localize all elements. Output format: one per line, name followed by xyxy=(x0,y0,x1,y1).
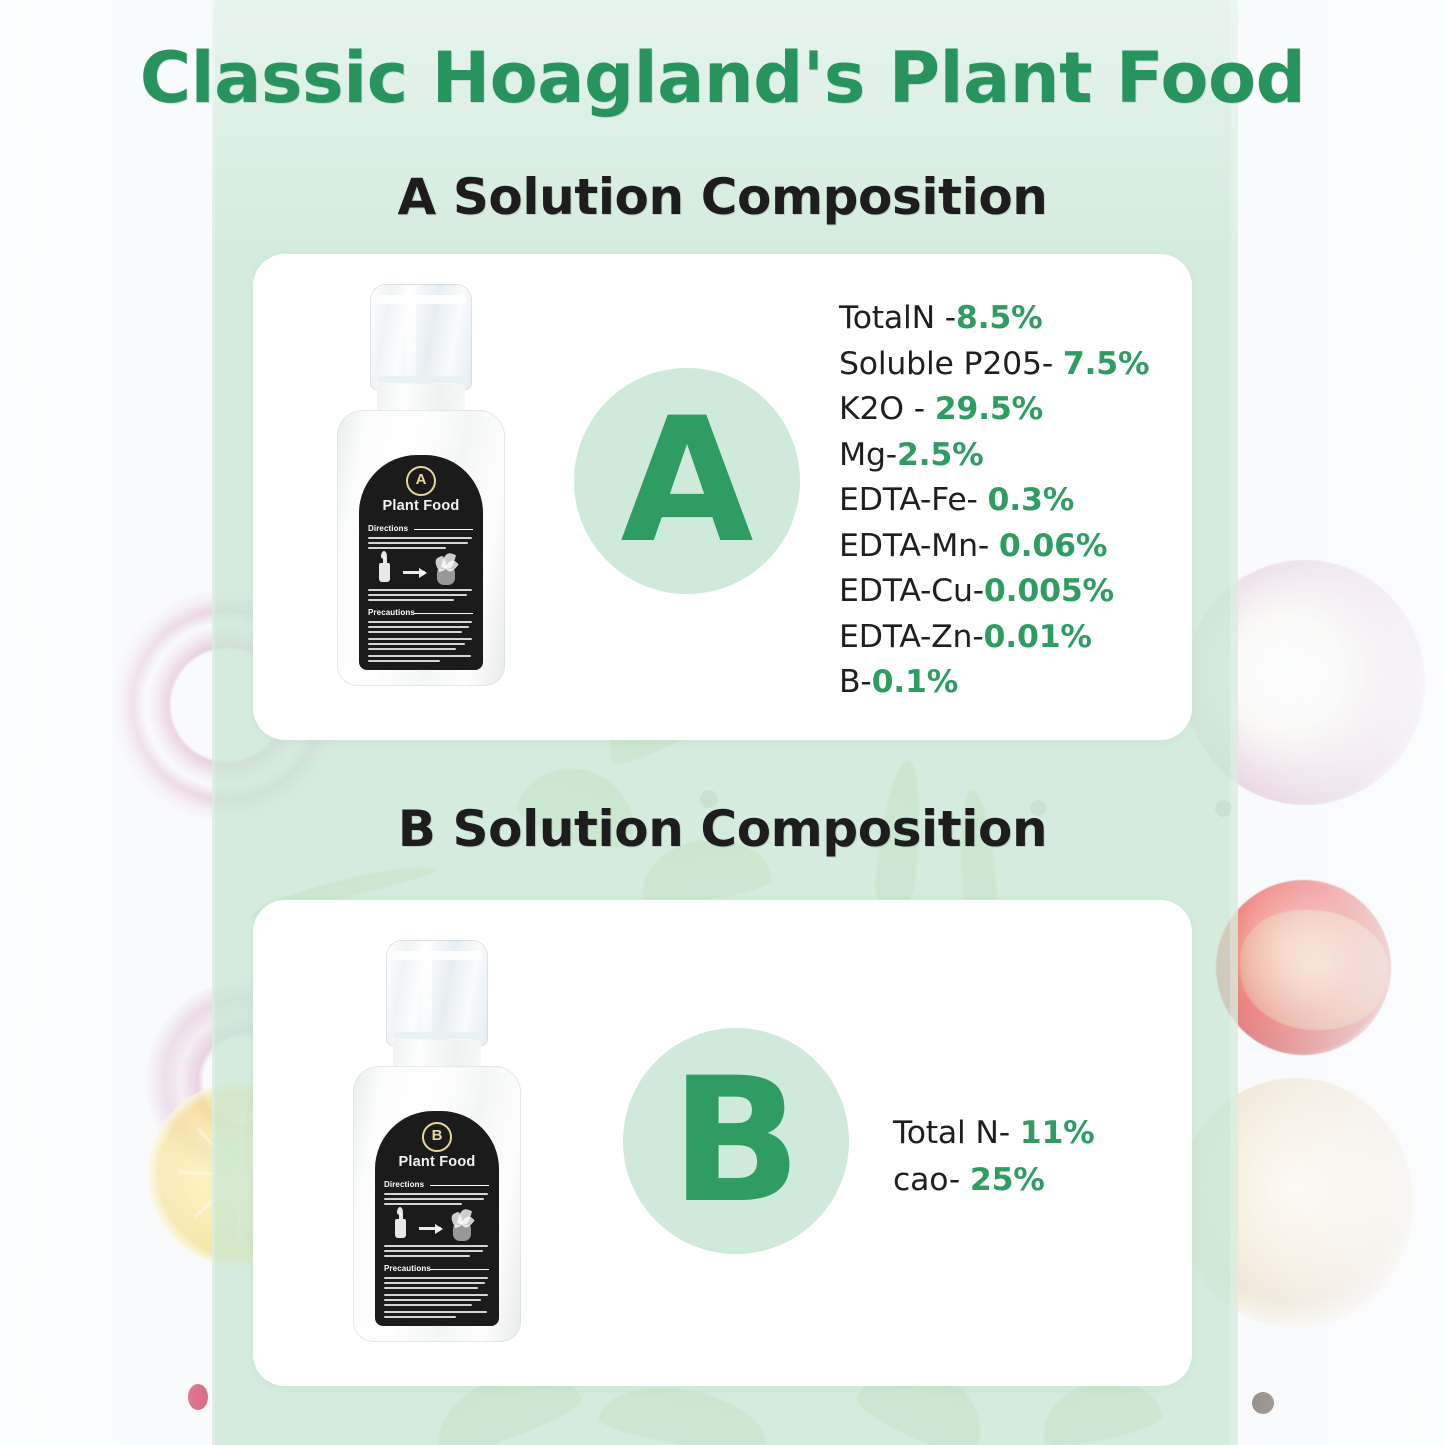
composition-nutrient-name: Soluble P205- xyxy=(839,346,1063,382)
label-body-line xyxy=(384,1311,487,1313)
pink-peppercorn-icon xyxy=(188,1384,208,1410)
composition-row: K2O - 29.5% xyxy=(839,387,1184,433)
label-body-line xyxy=(368,542,468,544)
bottle-label-b: B Plant Food Directions xyxy=(375,1111,499,1326)
label-body-line xyxy=(368,589,472,591)
cap-ridge-highlight xyxy=(422,944,432,1042)
infographic-page: Classic Hoagland's Plant Food A Solution… xyxy=(0,0,1445,1445)
composition-nutrient-name: K2O - xyxy=(839,391,935,427)
label-body-line xyxy=(384,1287,478,1289)
label-body-line xyxy=(384,1277,488,1279)
composition-nutrient-value: 0.06% xyxy=(999,528,1107,564)
composition-nutrient-value: 0.1% xyxy=(872,664,959,700)
label-body-line xyxy=(368,643,465,645)
label-body-line xyxy=(368,537,472,539)
label-body-line xyxy=(368,599,454,601)
composition-nutrient-name: EDTA-Mn- xyxy=(839,528,999,564)
cap-ridge-highlight xyxy=(406,288,416,386)
composition-card-a: A Plant Food Directions xyxy=(253,254,1192,740)
composition-nutrient-name: Mg- xyxy=(839,437,897,473)
composition-nutrient-value: 0.01% xyxy=(984,619,1092,655)
label-rule xyxy=(414,529,473,530)
label-rule xyxy=(430,1185,489,1186)
label-body-line xyxy=(368,660,440,662)
composition-nutrient-value: 11% xyxy=(1020,1115,1095,1151)
label-body-line xyxy=(368,631,462,633)
composition-nutrient-value: 25% xyxy=(970,1162,1045,1198)
bottle-cap-icon xyxy=(370,284,472,390)
label-rule xyxy=(414,613,473,614)
label-rule xyxy=(430,1269,489,1270)
composition-nutrient-name: cao- xyxy=(893,1162,970,1198)
bottle-body: A Plant Food Directions xyxy=(337,410,505,686)
label-body-line xyxy=(384,1255,470,1257)
label-body-line xyxy=(384,1245,488,1247)
label-directions-text: Directions xyxy=(368,524,408,533)
composition-row: EDTA-Cu-0.005% xyxy=(839,569,1184,615)
label-bottle-icon xyxy=(395,1219,406,1238)
bottle-a: A Plant Food Directions xyxy=(337,284,505,686)
composition-nutrient-name: TotalN - xyxy=(839,300,956,336)
composition-nutrient-value: 0.3% xyxy=(988,482,1075,518)
page-title: Classic Hoagland's Plant Food xyxy=(0,42,1445,116)
bottle-cap-icon xyxy=(386,940,488,1046)
composition-nutrient-name: Total N- xyxy=(893,1115,1020,1151)
composition-row: B-0.1% xyxy=(839,660,1184,706)
composition-row: Soluble P205- 7.5% xyxy=(839,342,1184,388)
label-precautions-text: Precautions xyxy=(368,608,415,617)
label-body-line xyxy=(368,626,469,628)
label-body-line xyxy=(368,648,456,650)
section-title-a: A Solution Composition xyxy=(0,168,1445,226)
label-body-line xyxy=(384,1299,481,1301)
label-brand-name: Plant Food xyxy=(359,498,483,514)
label-directions-heading: Directions xyxy=(368,524,408,533)
label-body-line xyxy=(384,1282,485,1284)
composition-row: EDTA-Mn- 0.06% xyxy=(839,524,1184,570)
composition-row: cao- 25% xyxy=(893,1157,1193,1204)
label-body-line xyxy=(368,547,446,549)
composition-nutrient-value: 8.5% xyxy=(956,300,1043,336)
label-precautions-text: Precautions xyxy=(384,1264,431,1273)
label-directions-heading: Directions xyxy=(384,1180,424,1189)
composition-nutrient-value: 7.5% xyxy=(1063,346,1150,382)
label-body-line xyxy=(384,1203,462,1205)
solution-letter-badge-a: A xyxy=(574,368,800,594)
peppercorn-icon xyxy=(1252,1392,1274,1414)
composition-nutrient-name: EDTA-Cu- xyxy=(839,573,984,609)
composition-nutrient-value: 2.5% xyxy=(897,437,984,473)
composition-nutrient-name: EDTA-Zn- xyxy=(839,619,984,655)
bottle-body: B Plant Food Directions xyxy=(353,1066,521,1342)
composition-row: TotalN -8.5% xyxy=(839,296,1184,342)
label-plant-icon xyxy=(433,551,459,585)
label-body-line xyxy=(384,1193,488,1195)
label-body-line xyxy=(384,1304,472,1306)
label-body-line xyxy=(384,1250,483,1252)
composition-row: Mg-2.5% xyxy=(839,433,1184,479)
label-body-line xyxy=(368,638,472,640)
label-body-line xyxy=(384,1294,488,1296)
label-directions-text: Directions xyxy=(384,1180,424,1189)
label-body-line xyxy=(368,594,467,596)
label-plant-icon xyxy=(449,1207,475,1241)
label-bottle-icon xyxy=(379,563,390,582)
composition-card-b: B Plant Food Directions xyxy=(253,900,1192,1386)
label-precautions-heading: Precautions xyxy=(384,1264,431,1273)
bottle-label-a: A Plant Food Directions xyxy=(359,455,483,670)
label-body-line xyxy=(368,655,471,657)
bottle-b: B Plant Food Directions xyxy=(353,940,521,1342)
composition-row: Total N- 11% xyxy=(893,1110,1193,1157)
composition-nutrient-name: EDTA-Fe- xyxy=(839,482,988,518)
solution-letter-badge-b: B xyxy=(623,1028,849,1254)
label-brand-name: Plant Food xyxy=(375,1154,499,1170)
section-title-b: B Solution Composition xyxy=(0,800,1445,858)
label-letter-badge-icon: A xyxy=(406,466,436,496)
composition-nutrient-value: 0.005% xyxy=(984,573,1114,609)
label-arrow-icon xyxy=(403,571,425,574)
composition-row: EDTA-Zn-0.01% xyxy=(839,615,1184,661)
composition-nutrient-value: 29.5% xyxy=(935,391,1043,427)
label-precautions-heading: Precautions xyxy=(368,608,415,617)
composition-row: EDTA-Fe- 0.3% xyxy=(839,478,1184,524)
composition-list-b: Total N- 11%cao- 25% xyxy=(893,1110,1193,1204)
label-body-line xyxy=(384,1198,484,1200)
composition-list-a: TotalN -8.5%Soluble P205- 7.5%K2O - 29.5… xyxy=(839,296,1184,706)
label-letter-badge-icon: B xyxy=(422,1122,452,1152)
composition-nutrient-name: B- xyxy=(839,664,872,700)
label-body-line xyxy=(384,1316,456,1318)
label-body-line xyxy=(368,621,472,623)
label-arrow-icon xyxy=(419,1227,441,1230)
